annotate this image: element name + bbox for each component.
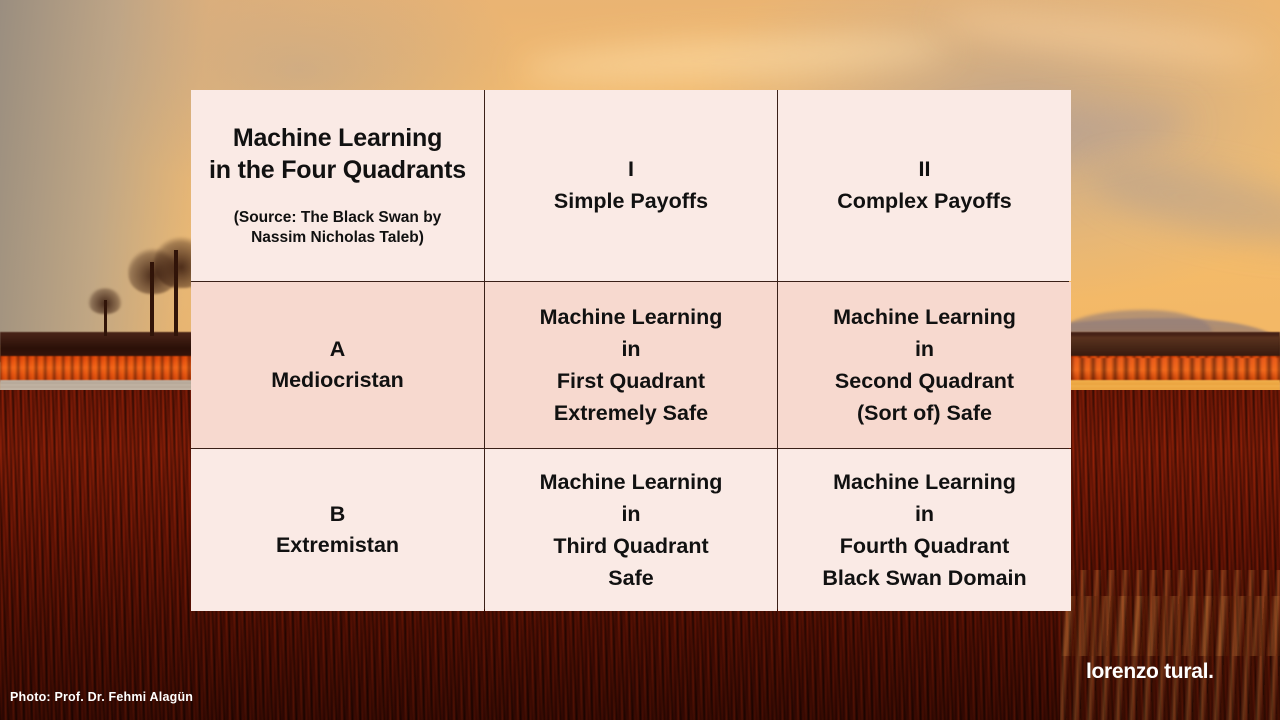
sunlit-reed-band bbox=[1060, 358, 1280, 382]
column-header-label-ii: Complex Payoffs bbox=[837, 186, 1011, 217]
matrix-source-note: (Source: The Black Swan by Nassim Nichol… bbox=[234, 208, 442, 248]
quadrant-4-line-3: Fourth Quadrant bbox=[840, 530, 1010, 562]
quadrant-4-line-1: Machine Learning bbox=[833, 466, 1016, 498]
quadrant-3-line-1: Machine Learning bbox=[540, 466, 723, 498]
quadrant-2-line-1: Machine Learning bbox=[833, 301, 1016, 333]
quadrant-3-line-2: in bbox=[621, 498, 640, 530]
matrix-source-line-1: (Source: The Black Swan by bbox=[234, 209, 442, 226]
quadrant-cell-fourth: Machine Learning in Fourth Quadrant Blac… bbox=[778, 449, 1071, 611]
bare-tree-canopy bbox=[88, 288, 122, 314]
watermark-logo: lorenzo tural. bbox=[1086, 660, 1214, 684]
quadrant-3-line-3: Third Quadrant bbox=[553, 530, 708, 562]
row-header-label-b: Extremistan bbox=[276, 530, 399, 561]
column-header-simple-payoffs: I Simple Payoffs bbox=[485, 90, 777, 281]
quadrant-cell-third: Machine Learning in Third Quadrant Safe bbox=[485, 449, 777, 611]
column-header-numeral-i: I bbox=[628, 154, 634, 185]
row-header-letter-b: B bbox=[330, 499, 346, 530]
quadrant-3-line-4: Safe bbox=[608, 562, 653, 594]
quadrant-4-line-4: Black Swan Domain bbox=[822, 562, 1026, 594]
reed-stalks bbox=[1060, 596, 1280, 656]
quadrant-1-line-1: Machine Learning bbox=[540, 301, 723, 333]
quadrant-2-line-3: Second Quadrant bbox=[835, 365, 1014, 397]
four-quadrants-matrix: Machine Learning in the Four Quadrants (… bbox=[191, 90, 1069, 609]
quadrant-2-line-4: (Sort of) Safe bbox=[857, 397, 992, 429]
quadrant-1-line-2: in bbox=[621, 333, 640, 365]
column-header-numeral-ii: II bbox=[919, 154, 931, 185]
column-header-label-i: Simple Payoffs bbox=[554, 186, 708, 217]
row-header-extremistan: B Extremistan bbox=[191, 449, 484, 611]
matrix-title-cell: Machine Learning in the Four Quadrants (… bbox=[191, 90, 484, 281]
matrix-title-line-2: in the Four Quadrants bbox=[209, 156, 466, 184]
row-header-mediocristan: A Mediocristan bbox=[191, 282, 484, 448]
matrix-title: Machine Learning in the Four Quadrants bbox=[209, 123, 466, 186]
quadrant-4-line-2: in bbox=[915, 498, 934, 530]
quadrant-1-line-4: Extremely Safe bbox=[554, 397, 708, 429]
photo-credit: Photo: Prof. Dr. Fehmi Alagün bbox=[10, 690, 193, 704]
quadrant-2-line-2: in bbox=[915, 333, 934, 365]
row-header-label-a: Mediocristan bbox=[271, 365, 404, 396]
column-header-complex-payoffs: II Complex Payoffs bbox=[778, 90, 1071, 281]
quadrant-cell-first: Machine Learning in First Quadrant Extre… bbox=[485, 282, 777, 448]
row-header-letter-a: A bbox=[330, 334, 346, 365]
matrix-source-line-2: Nassim Nicholas Taleb) bbox=[251, 229, 424, 246]
quadrant-1-line-3: First Quadrant bbox=[557, 365, 705, 397]
matrix-title-line-1: Machine Learning bbox=[233, 124, 442, 152]
quadrant-cell-second: Machine Learning in Second Quadrant (Sor… bbox=[778, 282, 1071, 448]
